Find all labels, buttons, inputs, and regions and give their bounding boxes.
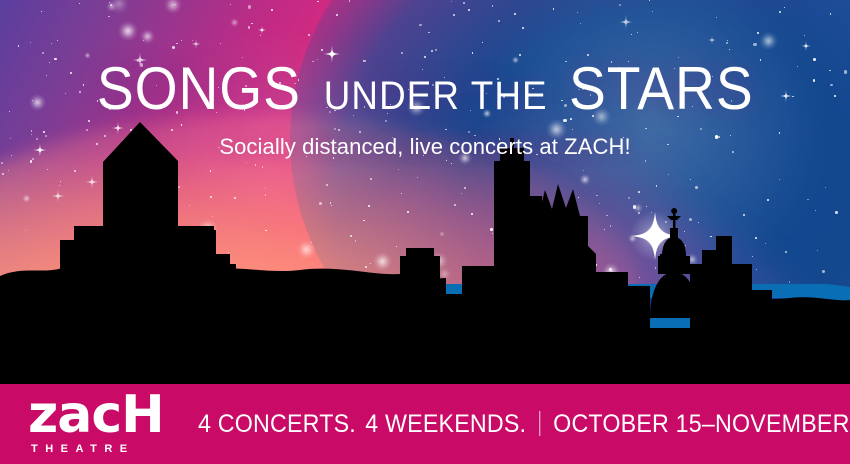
star bbox=[18, 45, 20, 47]
right-shoreline bbox=[700, 297, 850, 384]
star bbox=[498, 20, 501, 23]
star bbox=[631, 34, 632, 35]
star bbox=[251, 23, 252, 24]
star bbox=[580, 23, 581, 24]
star bbox=[419, 24, 422, 27]
tagline-dates: OCTOBER 15–NOVEMBER 8 bbox=[553, 410, 850, 438]
star bbox=[172, 46, 175, 49]
glow-star bbox=[759, 32, 778, 51]
headline-stars: STARS bbox=[569, 54, 754, 123]
star bbox=[492, 5, 494, 7]
sparkle-star-icon bbox=[191, 39, 201, 49]
zach-theatre-logo[interactable]: zacH THEATRE bbox=[0, 393, 164, 455]
star bbox=[522, 27, 524, 29]
star bbox=[260, 35, 261, 36]
star bbox=[716, 17, 717, 18]
star bbox=[757, 32, 759, 34]
star bbox=[230, 4, 231, 5]
glow-star bbox=[164, 0, 182, 14]
star bbox=[514, 13, 516, 15]
star bbox=[463, 2, 465, 4]
star bbox=[336, 14, 338, 16]
star bbox=[830, 13, 831, 14]
star bbox=[431, 50, 433, 52]
star bbox=[619, 4, 621, 6]
headline: SONGSUNDER THESTARS bbox=[0, 54, 850, 123]
logo-wordmark: zacH bbox=[28, 393, 164, 438]
star bbox=[181, 40, 182, 41]
star bbox=[784, 7, 785, 8]
tagline-weekends: 4 WEEKENDS. bbox=[365, 410, 526, 438]
star bbox=[271, 9, 273, 11]
star bbox=[577, 12, 578, 13]
star bbox=[41, 11, 42, 12]
star bbox=[451, 1, 453, 3]
sparkle-star-icon bbox=[619, 15, 633, 29]
headline-under-the: UNDER THE bbox=[320, 74, 551, 119]
glow-star bbox=[230, 18, 239, 27]
star bbox=[468, 9, 471, 12]
star bbox=[779, 11, 781, 13]
star bbox=[57, 40, 59, 42]
footer-tagline: 4 CONCERTS.4 WEEKENDS.OCTOBER 15–NOVEMBE… bbox=[198, 410, 850, 439]
star bbox=[453, 14, 455, 16]
star bbox=[317, 1, 318, 2]
star bbox=[729, 49, 731, 51]
star bbox=[248, 26, 251, 29]
star bbox=[176, 43, 177, 44]
star bbox=[349, 0, 351, 2]
tagline-concerts: 4 CONCERTS. bbox=[198, 410, 356, 438]
sparkle-star-icon bbox=[708, 36, 717, 45]
tower-d bbox=[590, 272, 628, 384]
promotional-banner: SONGSUNDER THESTARS Socially distanced, … bbox=[0, 0, 850, 464]
sparkle-star-icon bbox=[801, 41, 811, 51]
tower-b bbox=[440, 294, 464, 384]
star bbox=[649, 0, 650, 1]
tower-austonian bbox=[494, 161, 530, 384]
star bbox=[753, 43, 756, 46]
star bbox=[482, 42, 483, 43]
star bbox=[321, 49, 323, 51]
tower-a-cap bbox=[406, 248, 434, 258]
subheadline: Socially distanced, live concerts at ZAC… bbox=[0, 134, 850, 160]
headline-songs: SONGS bbox=[97, 54, 301, 123]
glow-star bbox=[140, 29, 155, 44]
star bbox=[428, 32, 429, 33]
tagline-divider bbox=[539, 411, 540, 436]
star bbox=[308, 34, 310, 36]
star bbox=[652, 11, 653, 12]
star bbox=[220, 43, 221, 44]
star bbox=[804, 35, 805, 36]
tower-a bbox=[400, 256, 440, 384]
glow-star bbox=[118, 21, 138, 41]
star bbox=[553, 8, 555, 10]
star bbox=[108, 16, 109, 17]
star bbox=[51, 43, 52, 44]
star bbox=[726, 42, 728, 44]
star bbox=[637, 32, 638, 33]
star bbox=[79, 3, 80, 4]
glow-star bbox=[106, 1, 117, 12]
star bbox=[248, 5, 252, 9]
star bbox=[727, 40, 728, 41]
footer-bar: zacH THEATRE 4 CONCERTS.4 WEEKENDS.OCTOB… bbox=[0, 384, 850, 464]
sparkle-star-icon bbox=[258, 26, 267, 35]
star bbox=[30, 42, 31, 43]
star bbox=[435, 49, 437, 51]
